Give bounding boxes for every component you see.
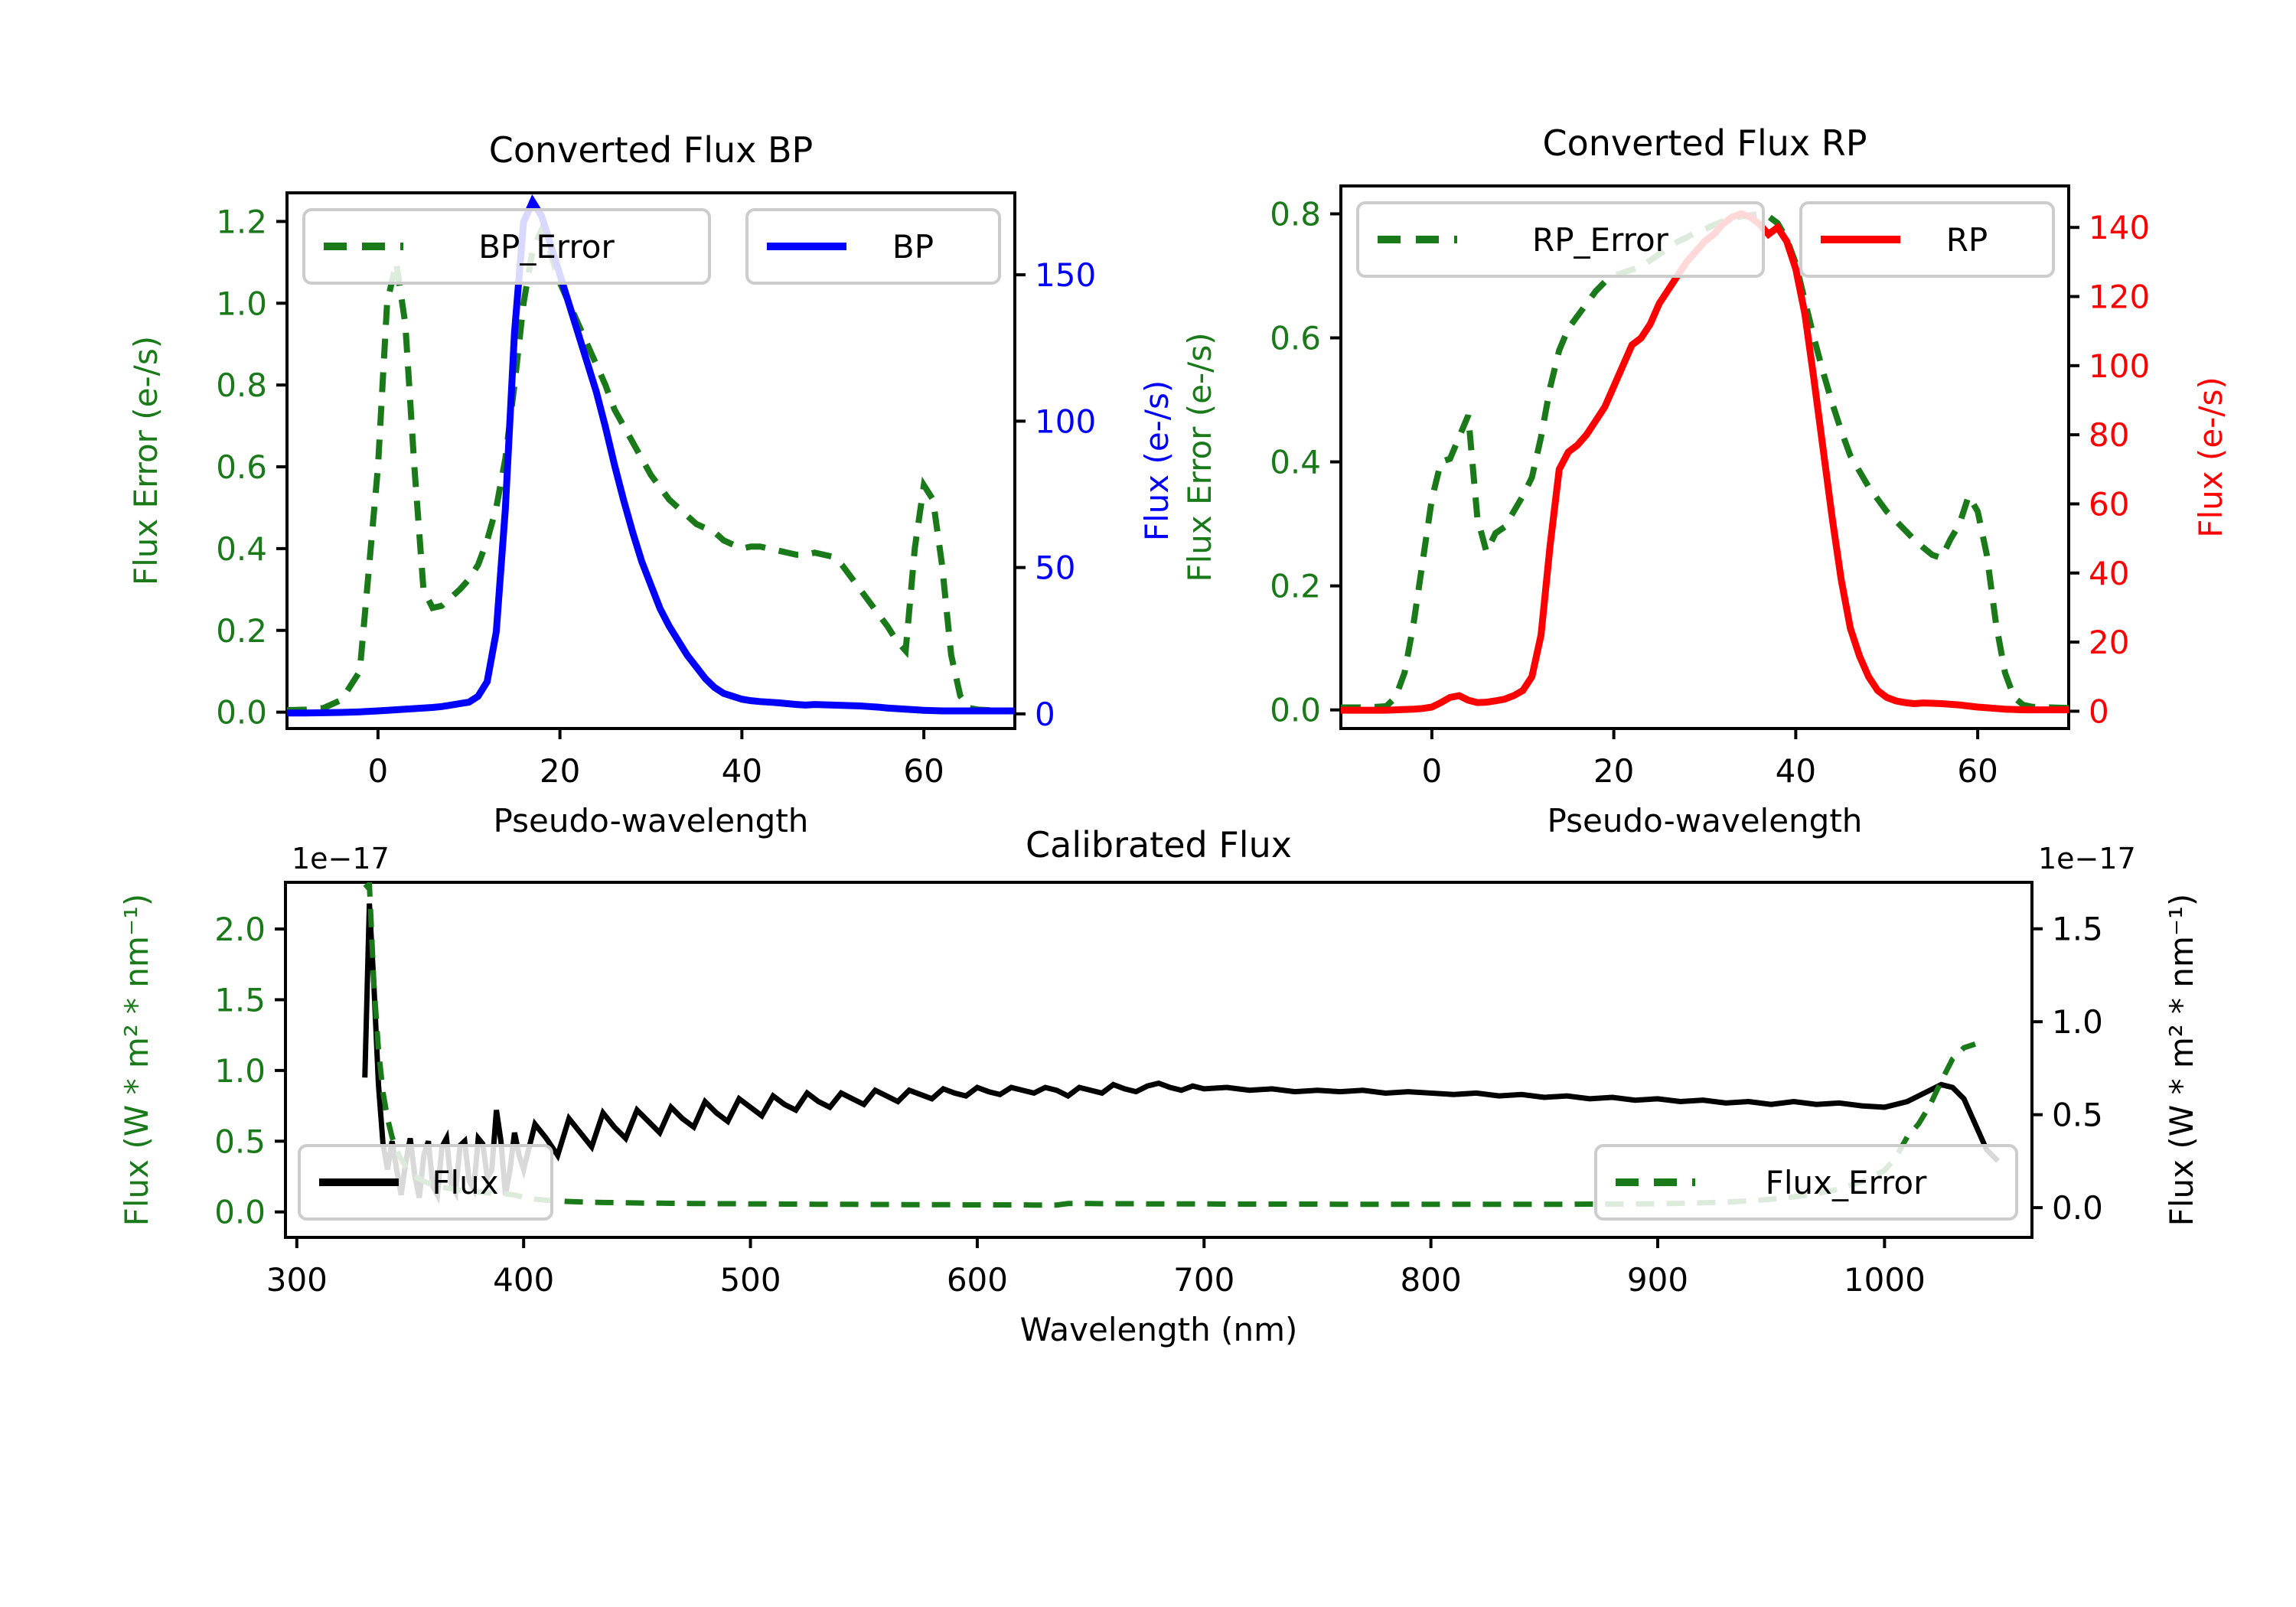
- ytick-right-label-calibrated-2: 1.0: [2052, 1003, 2103, 1041]
- series-bp-error: [287, 230, 1015, 711]
- ytick-right-label-bp-2: 100: [1035, 403, 1096, 440]
- xtick-label-rp-1: 20: [1593, 752, 1634, 790]
- ytick-left-label-bp-2: 0.4: [216, 530, 267, 568]
- ytick-right-label-bp-0: 0: [1035, 696, 1055, 733]
- panel-rp: Converted Flux RP0204060Pseudo-wavelengt…: [1181, 122, 2229, 839]
- xtick-label-bp-2: 40: [722, 752, 762, 790]
- ytick-left-label-bp-3: 0.6: [216, 448, 267, 486]
- ytick-left-label-rp-3: 0.6: [1270, 320, 1321, 357]
- legend-rp-label: RP: [1946, 221, 1988, 259]
- yaxis-label-right-bp: Flux (e-/s): [1138, 380, 1176, 541]
- panel-calibrated: Calibrated Flux3004005006007008009001000…: [118, 824, 2200, 1348]
- xtick-label-calibrated-3: 600: [947, 1261, 1008, 1299]
- ytick-left-label-calibrated-2: 1.0: [214, 1052, 266, 1090]
- ytick-right-label-calibrated-3: 1.5: [2052, 911, 2103, 948]
- ytick-left-label-rp-1: 0.2: [1270, 568, 1321, 605]
- xtick-label-calibrated-6: 900: [1627, 1261, 1688, 1299]
- ytick-right-label-rp-5: 100: [2089, 347, 2150, 385]
- legend-flux[interactable]: Flux: [299, 1146, 552, 1219]
- xaxis-label-bp: Pseudo-wavelength: [494, 802, 809, 839]
- series-rp-error: [1341, 214, 2069, 708]
- panel-bp: Converted Flux BP0204060Pseudo-wavelengt…: [127, 129, 1176, 839]
- ytick-left-label-bp-6: 1.2: [216, 203, 267, 240]
- ytick-right-label-rp-3: 60: [2089, 485, 2129, 523]
- xtick-label-calibrated-4: 700: [1173, 1261, 1234, 1299]
- xtick-label-calibrated-0: 300: [266, 1261, 328, 1299]
- xaxis-label-rp: Pseudo-wavelength: [1548, 802, 1863, 839]
- ytick-right-label-bp-1: 50: [1035, 549, 1075, 587]
- xtick-label-calibrated-1: 400: [493, 1261, 554, 1299]
- legend-flux-error[interactable]: Flux_Error: [1596, 1146, 2017, 1219]
- offset-text-right-calibrated: 1e−17: [2038, 842, 2136, 875]
- ytick-left-label-bp-1: 0.2: [216, 612, 267, 650]
- xtick-label-bp-3: 60: [903, 752, 944, 790]
- ytick-right-label-rp-0: 0: [2089, 693, 2109, 730]
- ytick-right-label-rp-1: 20: [2089, 624, 2129, 661]
- ytick-left-label-rp-4: 0.8: [1270, 195, 1321, 233]
- legend-bp-error-label: BP_Error: [478, 228, 615, 266]
- ytick-left-label-rp-2: 0.4: [1270, 444, 1321, 481]
- legend-flux-error-label: Flux_Error: [1766, 1164, 1927, 1201]
- xaxis-label-calibrated: Wavelength (nm): [1020, 1311, 1298, 1348]
- ytick-left-label-bp-5: 1.0: [216, 285, 267, 322]
- panel-title-bp: Converted Flux BP: [489, 129, 814, 171]
- offset-text-left-calibrated: 1e−17: [292, 842, 390, 875]
- ytick-left-label-bp-4: 0.8: [216, 367, 267, 404]
- panel-title-calibrated: Calibrated Flux: [1026, 824, 1292, 865]
- yaxis-label-left-bp: Flux Error (e-/s): [127, 336, 165, 585]
- legend-bp[interactable]: BP: [747, 210, 1000, 283]
- xtick-label-rp-2: 40: [1776, 752, 1816, 790]
- xtick-label-calibrated-5: 800: [1401, 1261, 1462, 1299]
- ytick-right-label-rp-2: 40: [2089, 555, 2129, 592]
- ytick-left-label-calibrated-0: 0.0: [214, 1194, 266, 1231]
- legend-bp-error[interactable]: BP_Error: [304, 210, 709, 283]
- ytick-right-label-rp-7: 140: [2089, 209, 2150, 246]
- yaxis-label-right-rp: Flux (e-/s): [2192, 376, 2229, 537]
- ytick-right-label-rp-6: 120: [2089, 279, 2150, 316]
- ytick-right-label-calibrated-0: 0.0: [2052, 1189, 2103, 1227]
- panel-title-rp: Converted Flux RP: [1543, 122, 1867, 164]
- legend-rp[interactable]: RP: [1801, 203, 2053, 276]
- ytick-right-label-calibrated-1: 0.5: [2052, 1097, 2103, 1134]
- xtick-label-bp-1: 20: [540, 752, 580, 790]
- ytick-left-label-calibrated-1: 0.5: [214, 1123, 266, 1160]
- xtick-label-rp-3: 60: [1957, 752, 1998, 790]
- figure-canvas: Converted Flux BP0204060Pseudo-wavelengt…: [0, 0, 2296, 1607]
- matplotlib-figure: Converted Flux BP0204060Pseudo-wavelengt…: [0, 0, 2296, 1607]
- data-layer-rp: [1341, 214, 2069, 710]
- ytick-left-label-calibrated-4: 2.0: [214, 911, 266, 948]
- xtick-label-bp-0: 0: [368, 752, 389, 790]
- ytick-left-label-rp-0: 0.0: [1270, 692, 1321, 729]
- xtick-label-rp-0: 0: [1422, 752, 1443, 790]
- ytick-right-label-rp-4: 80: [2089, 416, 2129, 454]
- ytick-right-label-bp-3: 150: [1035, 256, 1096, 294]
- yaxis-label-left-calibrated: Flux (W * m² * nm⁻¹): [118, 894, 155, 1227]
- xtick-label-calibrated-2: 500: [719, 1261, 781, 1299]
- ytick-left-label-calibrated-3: 1.5: [214, 981, 266, 1019]
- yaxis-label-right-calibrated: Flux (W * m² * nm⁻¹): [2163, 894, 2200, 1227]
- legend-bp-label: BP: [892, 228, 934, 266]
- xtick-label-calibrated-7: 1000: [1844, 1261, 1926, 1299]
- ytick-left-label-bp-0: 0.0: [216, 694, 267, 732]
- yaxis-label-left-rp: Flux Error (e-/s): [1181, 332, 1218, 582]
- legend-rp-error-label: RP_Error: [1532, 221, 1669, 259]
- legend-rp-error[interactable]: RP_Error: [1358, 203, 1763, 276]
- legend-flux-label: Flux: [432, 1164, 498, 1201]
